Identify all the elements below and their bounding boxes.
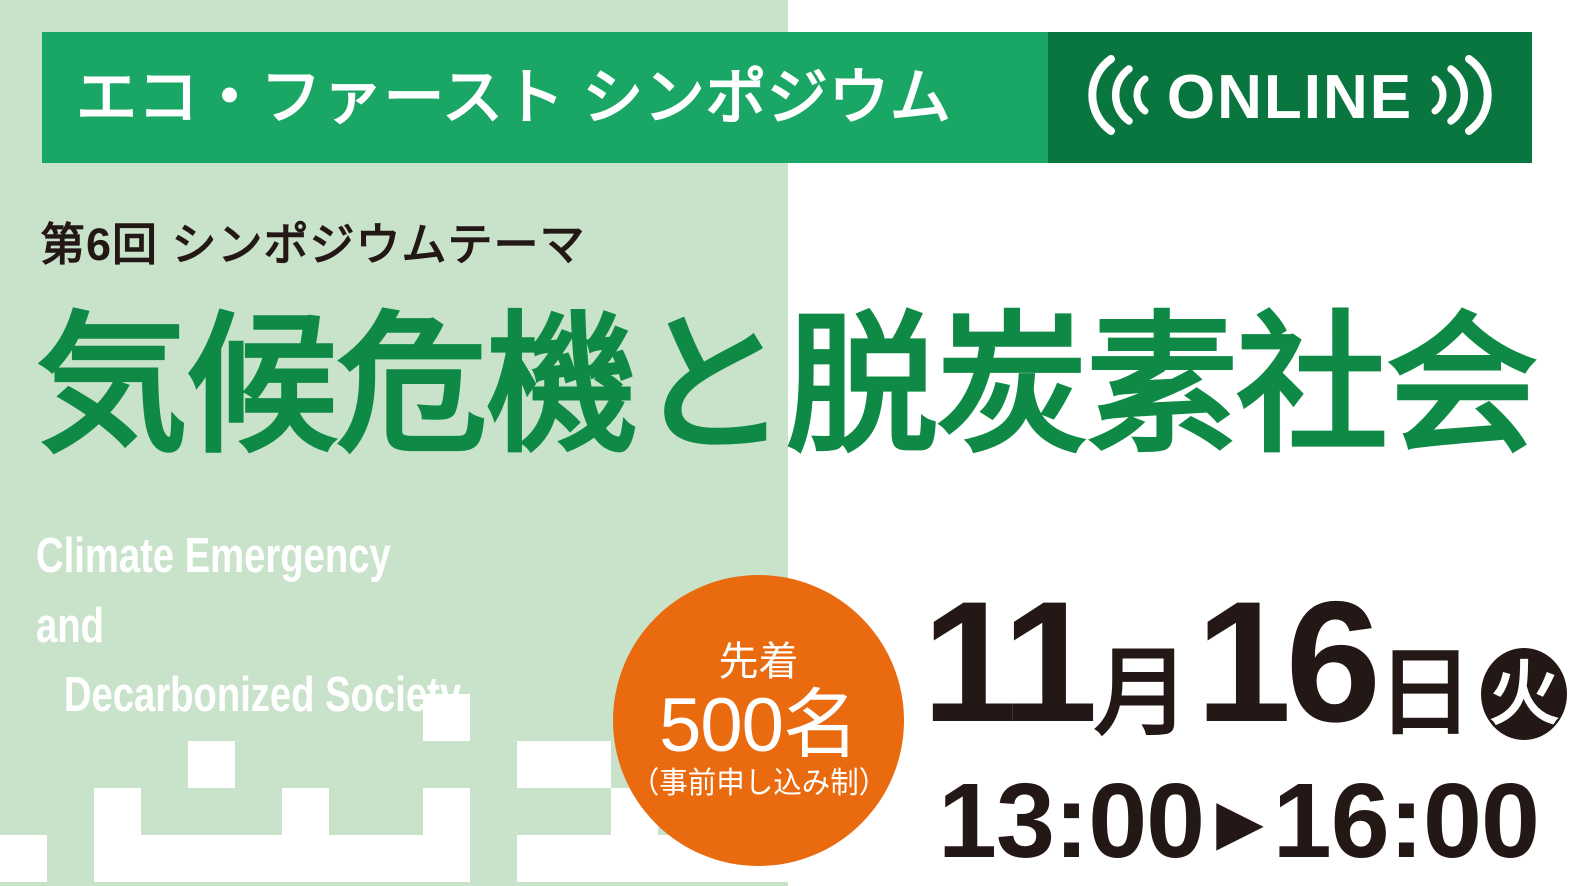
poster-root: エコ・ファースト シンポジウム ONLINE — [0, 0, 1584, 886]
badge-capacity-value: 500名 — [659, 686, 858, 766]
checker-cell — [423, 788, 470, 835]
checker-cell — [517, 835, 564, 882]
symposium-theme-label: 第6回 シンポジウムテーマ — [40, 222, 586, 267]
symposium-subtitle-en: Climate Emergency and Decarbonized Socie… — [36, 522, 461, 731]
wave-left-icon — [1085, 49, 1153, 146]
checker-cell — [282, 788, 329, 835]
time-end: 16:00 — [1273, 768, 1539, 874]
event-time: 13:00 ▶ 16:00 — [938, 768, 1539, 874]
subtitle-line-2: Decarbonized Society — [36, 661, 461, 731]
banner-title-jp: エコ・ファースト シンポジウム — [76, 67, 951, 128]
checker-cell — [517, 741, 564, 788]
time-start: 13:00 — [938, 768, 1204, 874]
header-banner: エコ・ファースト シンポジウム ONLINE — [42, 32, 1532, 163]
date-day-unit: 日 — [1377, 646, 1473, 742]
banner-title-block: エコ・ファースト シンポジウム — [42, 32, 1048, 163]
time-arrow-icon: ▶ — [1216, 792, 1263, 854]
wave-right-icon — [1427, 49, 1495, 146]
checker-cell — [423, 835, 470, 882]
symposium-title: 気候危機と脱炭素社会 — [36, 304, 1536, 468]
badge-first-come-label: 先着 — [719, 642, 799, 682]
date-day-number: 16 — [1196, 576, 1375, 748]
checker-cell — [564, 741, 611, 788]
checker-cell — [94, 835, 141, 882]
checker-cell — [188, 835, 235, 882]
checker-cell — [282, 835, 329, 882]
online-badge-block: ONLINE — [1048, 32, 1532, 163]
capacity-badge: 先着 500名 （事前申し込み制） — [613, 575, 904, 866]
checker-cell — [329, 835, 376, 882]
date-month-unit: 月 — [1094, 646, 1190, 742]
online-label: ONLINE — [1167, 67, 1413, 129]
checker-cell — [0, 835, 47, 882]
checker-cell — [611, 835, 658, 882]
checker-cell — [564, 835, 611, 882]
checker-cell — [94, 788, 141, 835]
checker-cell — [376, 835, 423, 882]
date-month-number: 11 — [922, 576, 1092, 748]
checker-cell — [235, 835, 282, 882]
checker-cell — [188, 741, 235, 788]
checker-cell — [141, 835, 188, 882]
subtitle-line-1: Climate Emergency and — [36, 522, 461, 661]
badge-registration-note: （事前申し込み制） — [630, 769, 887, 799]
event-date: 11 月 16 日 火 — [922, 576, 1567, 748]
date-weekday-badge: 火 — [1481, 648, 1567, 740]
